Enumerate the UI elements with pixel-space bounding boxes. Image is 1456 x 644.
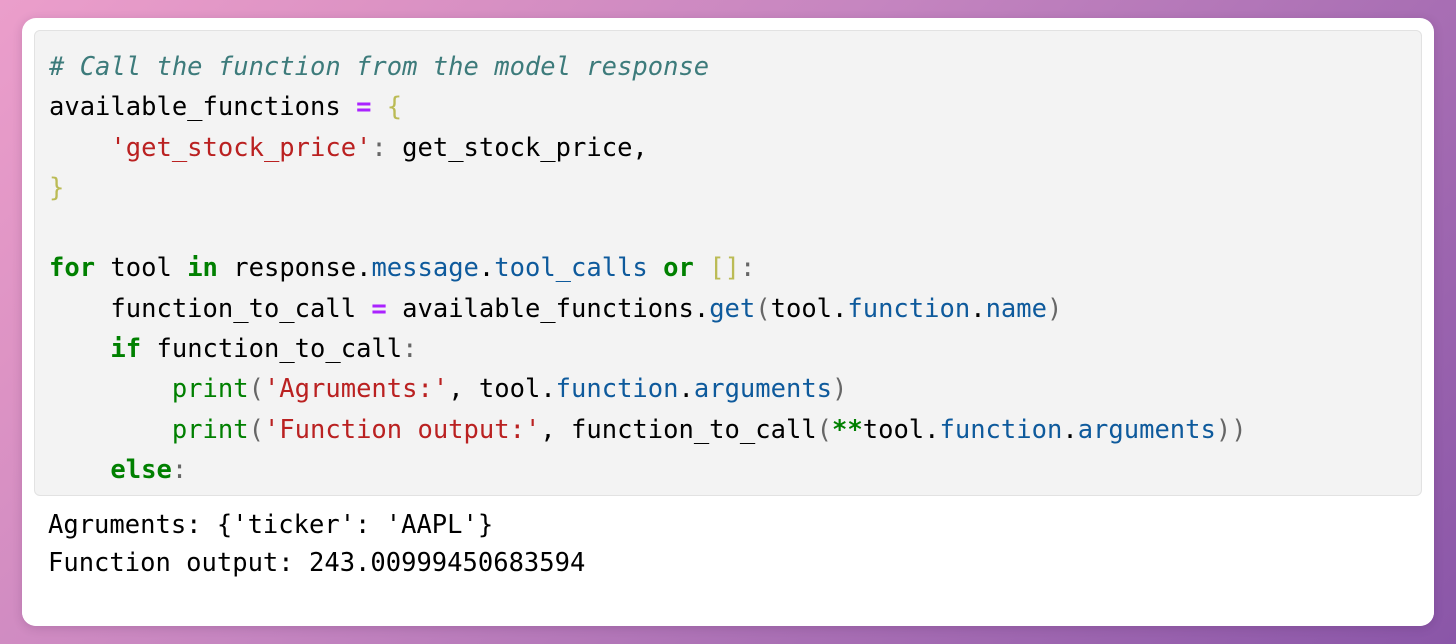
token-string-function-output: 'Function output:' xyxy=(264,415,540,445)
token-colon-for: : xyxy=(740,253,755,283)
token-brace-close: } xyxy=(49,173,64,203)
code-input-block[interactable]: # Call the function from the model respo… xyxy=(34,30,1422,496)
token-colon: : xyxy=(371,133,386,163)
token-function-to-call-2: function_to_call xyxy=(157,334,403,364)
token-attr-message: message xyxy=(371,253,478,283)
token-tool-dot-3: tool. xyxy=(863,415,940,445)
token-dot-4: . xyxy=(1062,415,1077,445)
token-colon-if: : xyxy=(402,334,417,364)
token-dict-key-string: 'get_stock_price' xyxy=(110,133,371,163)
token-response-object: response. xyxy=(218,253,372,283)
token-paren-close-4: ) xyxy=(1231,415,1246,445)
token-attr-arguments-2: arguments xyxy=(1078,415,1216,445)
token-dot-1: . xyxy=(479,253,494,283)
token-comma-1: , xyxy=(448,374,479,404)
token-kwargs-star: ** xyxy=(832,415,863,445)
token-tool-dot-2: tool. xyxy=(479,374,556,404)
token-dot-3: . xyxy=(679,374,694,404)
token-paren-open-3: ( xyxy=(249,415,264,445)
token-paren-close-3: ) xyxy=(1216,415,1231,445)
code-output-block: Agruments: {'ticker': 'AAPL'} Function o… xyxy=(22,496,1434,626)
output-line-arguments: Agruments: {'ticker': 'AAPL'} xyxy=(48,506,1420,544)
token-dot-2: . xyxy=(970,294,985,324)
output-line-function-output: Function output: 243.00999450683594 xyxy=(48,544,1420,582)
token-colon-else: : xyxy=(172,455,187,485)
token-string-agruments: 'Agruments:' xyxy=(264,374,448,404)
token-assign-operator: = xyxy=(356,92,371,122)
token-function-to-call-3: function_to_call xyxy=(571,415,817,445)
token-available-functions-2: available_functions. xyxy=(402,294,709,324)
token-loop-var-tool: tool xyxy=(95,253,187,283)
token-keyword-else: else xyxy=(110,455,171,485)
code-cell-card: # Call the function from the model respo… xyxy=(22,18,1434,626)
token-attr-name-1: name xyxy=(986,294,1047,324)
token-paren-close-2: ) xyxy=(832,374,847,404)
code-comment: # Call the function from the model respo… xyxy=(49,52,709,82)
token-print-1: print xyxy=(172,374,249,404)
token-print-2: print xyxy=(172,415,249,445)
token-keyword-for: for xyxy=(49,253,95,283)
token-keyword-or: or xyxy=(663,253,694,283)
token-attr-tool-calls: tool_calls xyxy=(494,253,648,283)
token-dict-value: get_stock_price, xyxy=(387,133,648,163)
token-method-get: get xyxy=(709,294,755,324)
token-attr-function-2: function xyxy=(556,374,679,404)
token-comma-2: , xyxy=(540,415,571,445)
token-paren-open-2: ( xyxy=(249,374,264,404)
token-available-functions: available_functions xyxy=(49,92,341,122)
token-assign-operator-2: = xyxy=(371,294,386,324)
token-attr-function-3: function xyxy=(940,415,1063,445)
token-keyword-in: in xyxy=(187,253,218,283)
token-paren-open-1: ( xyxy=(755,294,770,324)
python-source-code: # Call the function from the model respo… xyxy=(49,47,1407,496)
token-paren-close-1: ) xyxy=(1047,294,1062,324)
token-tool-dot-1: tool. xyxy=(771,294,848,324)
token-attr-arguments-1: arguments xyxy=(694,374,832,404)
token-paren-open-4: ( xyxy=(817,415,832,445)
token-brace-open: { xyxy=(387,92,402,122)
token-empty-list: [] xyxy=(709,253,740,283)
token-attr-function-1: function xyxy=(847,294,970,324)
token-keyword-if: if xyxy=(110,334,141,364)
token-function-to-call: function_to_call xyxy=(110,294,356,324)
